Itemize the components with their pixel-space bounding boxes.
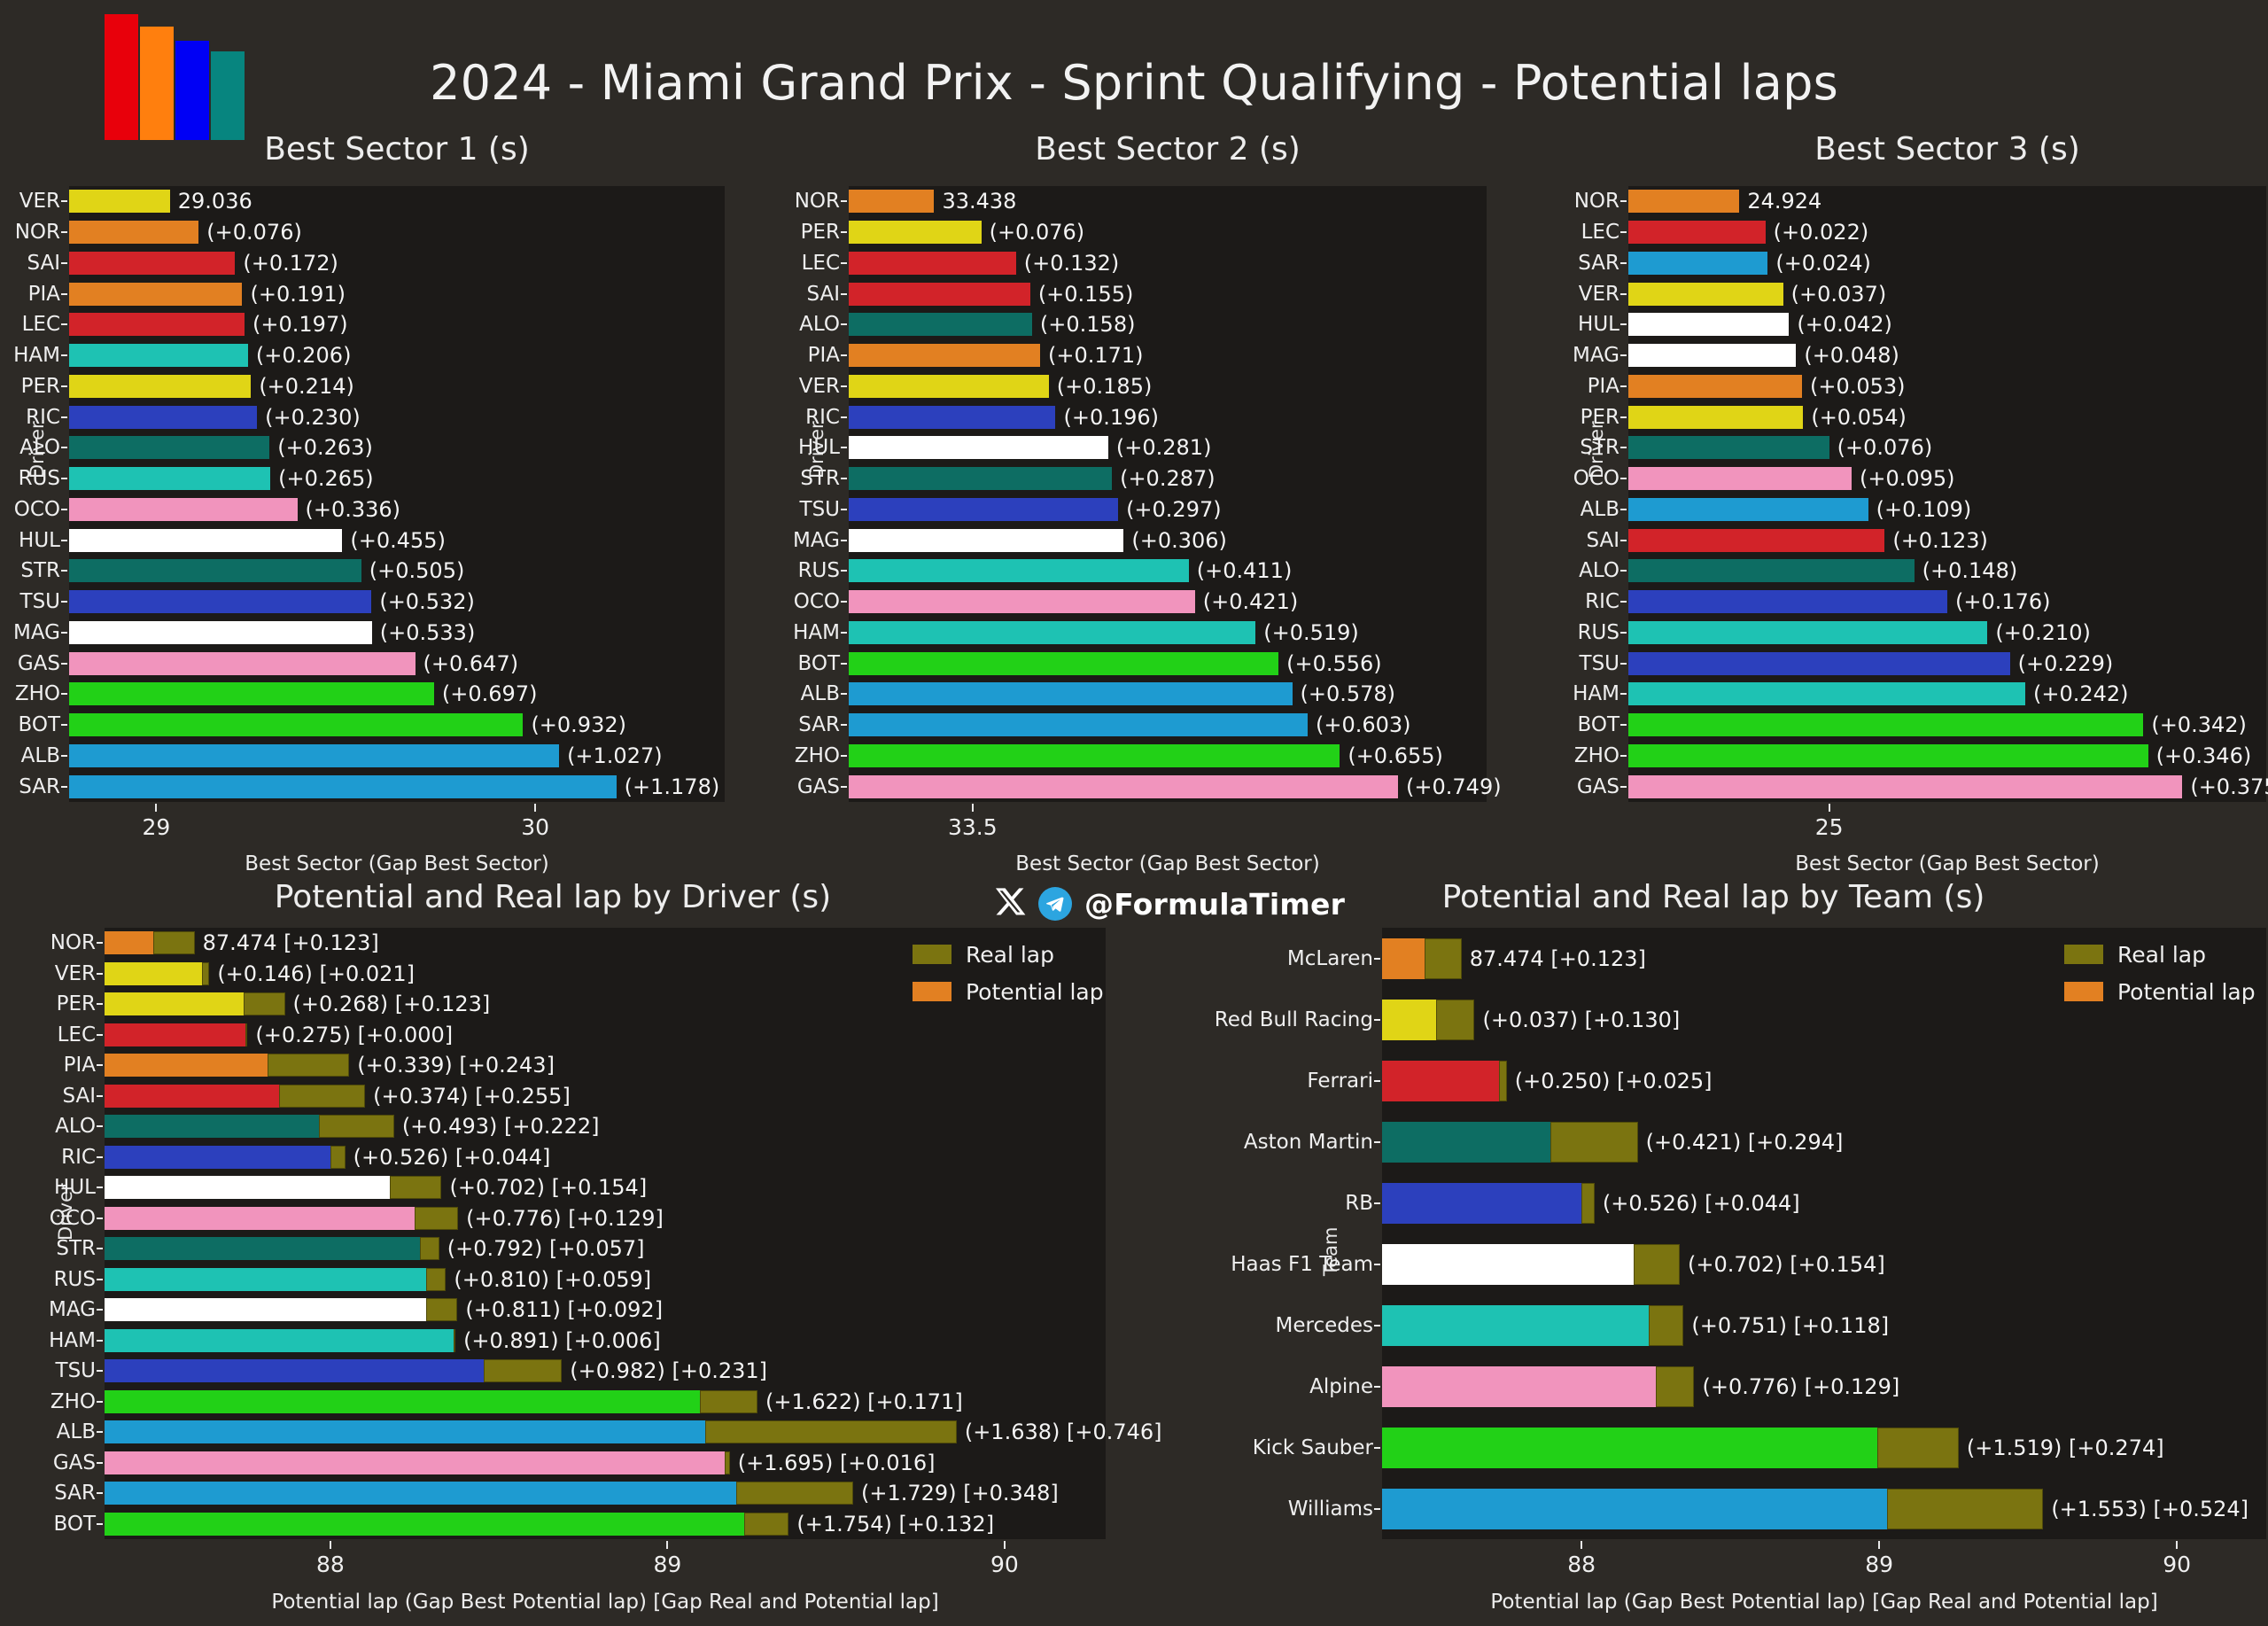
legend-swatch — [2064, 945, 2103, 964]
bar-OCO[interactable] — [1628, 467, 1852, 490]
bar-ALB[interactable] — [849, 682, 1293, 705]
bar-TSU[interactable] — [69, 590, 371, 613]
y-tick-mark — [841, 570, 847, 572]
bar-BOT[interactable] — [69, 713, 523, 736]
chart-row[interactable]: RUS(+0.810) [+0.059] — [105, 1268, 1106, 1291]
bar-RUS[interactable] — [69, 467, 270, 490]
chart-row[interactable]: OCO(+0.336) — [69, 498, 725, 521]
y-tick-mark — [841, 786, 847, 788]
y-tick-mark — [61, 447, 67, 448]
chart-row[interactable]: HAM(+0.519) — [849, 621, 1487, 644]
bar-MAG[interactable] — [69, 621, 372, 644]
bar-OCO[interactable] — [849, 590, 1195, 613]
bar-value-label-RIC: (+0.196) — [1055, 405, 1159, 430]
y-tick-mark — [1620, 755, 1627, 757]
bar-value-label-SAR: (+1.729) [+0.348] — [853, 1481, 1059, 1505]
chart-row[interactable]: ZHO(+1.622) [+0.171] — [105, 1390, 1106, 1413]
chart-row[interactable]: ALO(+0.158) — [849, 313, 1487, 336]
x-tick-label: 89 — [653, 1552, 681, 1577]
bar-potential-ALO[interactable] — [105, 1115, 319, 1138]
bar-HAM[interactable] — [849, 621, 1255, 644]
x-tick-mark — [972, 804, 974, 812]
bar-MAG[interactable] — [1628, 344, 1796, 367]
legend-label: Real lap — [2117, 942, 2206, 968]
chart-row[interactable]: LEC(+0.275) [+0.000] — [105, 1023, 1106, 1046]
bar-SAI[interactable] — [1628, 529, 1884, 552]
bar-potential-Williams[interactable] — [1382, 1489, 1887, 1529]
bar-real-NOR[interactable] — [153, 931, 195, 954]
bar-potential-McLaren[interactable] — [1382, 938, 1425, 979]
x-tick-mark — [666, 1541, 668, 1549]
chart-row[interactable]: PER(+0.214) — [69, 375, 725, 398]
legend-item-potential-lap[interactable]: Potential lap — [2064, 976, 2256, 1007]
bar-ALO[interactable] — [1628, 559, 1915, 582]
bar-HAM[interactable] — [1628, 682, 2025, 705]
chart-row[interactable]: RIC(+0.230) — [69, 406, 725, 429]
chart-row[interactable]: LEC(+0.022) — [1628, 221, 2266, 244]
chart-row[interactable]: ALO(+0.493) [+0.222] — [105, 1115, 1106, 1138]
chart-row[interactable]: OCO(+0.776) [+0.129] — [105, 1207, 1106, 1230]
bar-BOT[interactable] — [1628, 713, 2143, 736]
bar-real-Ferrari[interactable] — [1499, 1061, 1506, 1101]
y-tick-mark — [97, 1309, 103, 1311]
bar-RIC[interactable] — [849, 406, 1055, 429]
y-tick-label-HAM: HAM — [793, 621, 840, 644]
bar-potential-PER[interactable] — [105, 992, 244, 1015]
y-tick-label-NOR: NOR — [795, 190, 840, 213]
bar-STR[interactable] — [69, 559, 361, 582]
bar-OCO[interactable] — [69, 498, 298, 521]
y-tick-label-RUS: RUS — [54, 1268, 96, 1291]
bar-potential-SAI[interactable] — [105, 1085, 279, 1108]
chart-row[interactable]: MAG(+0.533) — [69, 621, 725, 644]
bar-real-PER[interactable] — [244, 992, 285, 1015]
chart-row[interactable]: VER(+0.037) — [1628, 283, 2266, 306]
chart-row[interactable]: MAG(+0.048) — [1628, 344, 2266, 367]
bar-real-Mercedes[interactable] — [1649, 1305, 1684, 1346]
y-tick-label-RIC: RIC — [805, 406, 840, 429]
y-tick-mark — [841, 200, 847, 202]
bar-GAS[interactable] — [69, 652, 416, 675]
chart-row[interactable]: PIA(+0.171) — [849, 344, 1487, 367]
chart-plot-area-best-sector-2 — [849, 186, 1487, 802]
chart-row[interactable]: SAR(+1.729) [+0.348] — [105, 1482, 1106, 1505]
bar-TSU[interactable] — [849, 498, 1118, 521]
chart-row[interactable]: OCO(+0.095) — [1628, 467, 2266, 490]
chart-row[interactable]: HUL(+0.281) — [849, 436, 1487, 459]
y-tick-label-ZHO: ZHO — [50, 1390, 96, 1413]
y-tick-mark — [61, 200, 67, 202]
bar-LEC[interactable] — [849, 252, 1016, 275]
bar-real-Red Bull Racing[interactable] — [1436, 1000, 1475, 1040]
x-tick-mark — [330, 1541, 331, 1549]
bar-value-label-NOR: 33.438 — [934, 189, 1016, 214]
chart-row[interactable]: RIC(+0.176) — [1628, 590, 2266, 613]
y-tick-label-OCO: OCO — [1573, 467, 1619, 490]
y-tick-label-HUL: HUL — [1578, 313, 1619, 336]
bar-real-Haas F1 Team[interactable] — [1634, 1244, 1680, 1285]
chart-row[interactable]: ALB(+1.638) [+0.746] — [105, 1420, 1106, 1443]
bar-value-label-Mercedes: (+0.751) [+0.118] — [1683, 1313, 1889, 1338]
bar-potential-Aston Martin[interactable] — [1382, 1122, 1550, 1163]
bar-ALB[interactable] — [1628, 498, 1868, 521]
bar-value-label-OCO: (+0.336) — [298, 497, 401, 522]
bar-real-RIC[interactable] — [330, 1146, 346, 1169]
bar-PER[interactable] — [849, 221, 982, 244]
bar-STR[interactable] — [1628, 436, 1829, 459]
bar-value-label-RUS: (+0.411) — [1189, 558, 1293, 583]
chart-row[interactable]: MAG(+0.306) — [849, 529, 1487, 552]
bar-PIA[interactable] — [1628, 375, 1802, 398]
y-tick-label-Williams: Williams — [1288, 1498, 1373, 1521]
bar-TSU[interactable] — [1628, 652, 2010, 675]
bar-PIA[interactable] — [69, 283, 242, 306]
y-tick-label-TSU: TSU — [20, 590, 60, 613]
bar-value-label-GAS: (+1.695) [+0.016] — [730, 1451, 936, 1475]
bar-value-label-HUL: (+0.042) — [1789, 312, 1892, 337]
chart-row[interactable]: NOR33.438 — [849, 190, 1487, 213]
chart-row[interactable]: BOT(+0.932) — [69, 713, 725, 736]
legend-item-potential-lap[interactable]: Potential lap — [913, 976, 1104, 1007]
chart-row[interactable]: HUL(+0.702) [+0.154] — [105, 1176, 1106, 1199]
chart-row[interactable]: TSU(+0.297) — [849, 498, 1487, 521]
y-tick-mark — [61, 293, 67, 295]
bar-real-ALO[interactable] — [319, 1115, 393, 1138]
y-tick-mark — [841, 724, 847, 726]
x-tick-label: 88 — [316, 1552, 345, 1577]
chart-row[interactable]: BOT(+0.342) — [1628, 713, 2266, 736]
chart-row[interactable]: Aston Martin(+0.421) [+0.294] — [1382, 1122, 2266, 1163]
y-tick-label-GAS: GAS — [797, 775, 840, 798]
chart-row[interactable]: VER(+0.185) — [849, 375, 1487, 398]
chart-row[interactable]: HAM(+0.242) — [1628, 682, 2266, 705]
chart-row[interactable]: NOR24.924 — [1628, 190, 2266, 213]
y-tick-mark — [97, 1156, 103, 1158]
bar-LEC[interactable] — [69, 313, 245, 336]
bar-LEC[interactable] — [1628, 221, 1766, 244]
bar-potential-Ferrari[interactable] — [1382, 1061, 1499, 1101]
chart-row[interactable]: PER(+0.054) — [1628, 406, 2266, 429]
bar-potential-RIC[interactable] — [105, 1146, 330, 1169]
chart-row[interactable]: PIA(+0.191) — [69, 283, 725, 306]
chart-row[interactable]: HAM(+0.206) — [69, 344, 725, 367]
bar-real-HUL[interactable] — [390, 1176, 442, 1199]
x-tick-label: 25 — [1815, 814, 1844, 840]
bar-PER[interactable] — [1628, 406, 1803, 429]
bar-value-label-BOT: (+0.556) — [1278, 651, 1382, 676]
chart-row[interactable]: Alpine(+0.776) [+0.129] — [1382, 1366, 2266, 1407]
bar-real-BOT[interactable] — [744, 1513, 788, 1536]
chart-title-potential-real-by-team: Potential and Real lap by Team (s) — [1161, 879, 2266, 915]
bar-real-OCO[interactable] — [415, 1207, 458, 1230]
bar-HUL[interactable] — [1628, 313, 1789, 336]
bar-PER[interactable] — [69, 375, 251, 398]
bar-potential-RUS[interactable] — [105, 1268, 426, 1291]
bar-VER[interactable] — [69, 190, 170, 213]
page-title: 2024 - Miami Grand Prix - Sprint Qualify… — [0, 55, 2268, 111]
chart-row[interactable]: SAR(+0.603) — [849, 713, 1487, 736]
chart-row[interactable]: ALB(+0.578) — [849, 682, 1487, 705]
chart-row[interactable]: Kick Sauber(+1.519) [+0.274] — [1382, 1428, 2266, 1468]
bar-value-label-SAI: (+0.155) — [1030, 282, 1134, 307]
bar-ALO[interactable] — [69, 436, 269, 459]
y-tick-label-RUS: RUS — [19, 467, 60, 490]
bar-real-PIA[interactable] — [268, 1054, 349, 1077]
chart-row[interactable]: RIC(+0.526) [+0.044] — [105, 1146, 1106, 1169]
chart-row[interactable]: ALB(+1.027) — [69, 744, 725, 767]
y-tick-mark — [1620, 200, 1627, 202]
chart-row[interactable]: STR(+0.076) — [1628, 436, 2266, 459]
bar-RUS[interactable] — [1628, 621, 1987, 644]
bar-value-label-BOT: (+1.754) [+0.132] — [788, 1512, 994, 1537]
chart-row[interactable]: ZHO(+0.697) — [69, 682, 725, 705]
y-tick-mark — [841, 509, 847, 510]
x-tick-mark — [1581, 1541, 1582, 1549]
y-tick-mark — [61, 601, 67, 603]
y-tick-mark — [841, 354, 847, 356]
chart-title-best-sector-1: Best Sector 1 (s) — [69, 131, 725, 167]
bar-VER[interactable] — [1628, 283, 1783, 306]
y-tick-label-ALO: ALO — [55, 1115, 96, 1138]
y-tick-mark — [61, 478, 67, 479]
bar-potential-PIA[interactable] — [105, 1054, 268, 1077]
chart-row[interactable]: RUS(+0.265) — [69, 467, 725, 490]
bar-potential-HAM[interactable] — [105, 1329, 454, 1352]
bar-value-label-ALO: (+0.493) [+0.222] — [394, 1114, 600, 1139]
chart-row[interactable]: STR(+0.287) — [849, 467, 1487, 490]
chart-row[interactable]: PER(+0.076) — [849, 221, 1487, 244]
bar-GAS[interactable] — [849, 775, 1398, 798]
bar-value-label-PIA: (+0.191) — [242, 282, 346, 307]
bar-value-label-MAG: (+0.048) — [1796, 343, 1899, 368]
bar-HUL[interactable] — [849, 436, 1108, 459]
bar-real-RUS[interactable] — [426, 1268, 446, 1291]
y-tick-mark — [97, 1064, 103, 1066]
bar-potential-TSU[interactable] — [105, 1359, 484, 1382]
chart-row[interactable]: TSU(+0.982) [+0.231] — [105, 1359, 1106, 1382]
y-tick-label-PER: PER — [21, 375, 60, 398]
bar-value-label-PER: (+0.214) — [251, 374, 354, 399]
bar-SAR[interactable] — [69, 775, 617, 798]
y-tick-label-STR: STR — [1580, 436, 1619, 459]
bar-value-label-NOR: (+0.076) — [198, 220, 302, 245]
chart-row[interactable]: SAI(+0.374) [+0.255] — [105, 1085, 1106, 1108]
bar-value-label-RIC: (+0.526) [+0.044] — [346, 1145, 551, 1170]
bar-MAG[interactable] — [849, 529, 1123, 552]
bar-ZHO[interactable] — [69, 682, 434, 705]
chart-row[interactable]: RB(+0.526) [+0.044] — [1382, 1183, 2266, 1224]
y-tick-mark — [61, 632, 67, 634]
legend-item-real-lap[interactable]: Real lap — [2064, 939, 2256, 969]
bar-SAI[interactable] — [849, 283, 1030, 306]
bar-real-ZHO[interactable] — [700, 1390, 757, 1413]
bar-SAI[interactable] — [69, 252, 235, 275]
y-tick-label-LEC: LEC — [1581, 221, 1619, 244]
y-tick-label-ALO: ALO — [19, 436, 60, 459]
bar-STR[interactable] — [849, 467, 1112, 490]
x-tick-label: 33.5 — [948, 814, 998, 840]
x-tick-mark — [534, 804, 536, 812]
bar-potential-LEC[interactable] — [105, 1023, 245, 1046]
y-tick-mark — [841, 293, 847, 295]
y-tick-label-PIA: PIA — [64, 1054, 96, 1077]
bar-potential-Alpine[interactable] — [1382, 1366, 1656, 1407]
bar-SAR[interactable] — [849, 713, 1308, 736]
y-tick-mark — [1620, 632, 1627, 634]
x-axis-label-best-sector-3: Best Sector (Gap Best Sector) — [1628, 852, 2266, 875]
bar-real-Williams[interactable] — [1887, 1489, 2043, 1529]
bar-potential-ZHO[interactable] — [105, 1390, 700, 1413]
bar-HUL[interactable] — [69, 529, 342, 552]
y-tick-mark — [1620, 570, 1627, 572]
y-tick-mark — [1620, 262, 1627, 264]
bar-potential-SAR[interactable] — [105, 1482, 736, 1505]
bar-value-label-LEC: (+0.022) — [1766, 220, 1869, 245]
chart-row[interactable]: ALB(+0.109) — [1628, 498, 2266, 521]
chart-row[interactable]: NOR(+0.076) — [69, 221, 725, 244]
chart-row[interactable]: SAR(+0.024) — [1628, 252, 2266, 275]
chart-row[interactable]: PIA(+0.339) [+0.243] — [105, 1054, 1106, 1077]
chart-row[interactable]: ZHO(+0.655) — [849, 744, 1487, 767]
bar-potential-VER[interactable] — [105, 962, 202, 985]
bar-NOR[interactable] — [849, 190, 934, 213]
chart-row[interactable]: HUL(+0.455) — [69, 529, 725, 552]
bar-real-VER[interactable] — [202, 962, 209, 985]
bar-NOR[interactable] — [69, 221, 198, 244]
chart-row[interactable]: Haas F1 Team(+0.702) [+0.154] — [1382, 1244, 2266, 1285]
bar-real-ALB[interactable] — [705, 1420, 957, 1443]
x-tick-label: 90 — [2163, 1552, 2191, 1577]
bar-potential-MAG[interactable] — [105, 1298, 426, 1321]
bar-real-Aston Martin[interactable] — [1550, 1122, 1638, 1163]
y-tick-label-OCO: OCO — [50, 1207, 96, 1230]
y-tick-label-Ferrari: Ferrari — [1307, 1070, 1373, 1093]
bar-potential-STR[interactable] — [105, 1237, 420, 1260]
chart-row[interactable]: GAS(+0.647) — [69, 652, 725, 675]
chart-row[interactable]: GAS(+1.695) [+0.016] — [105, 1451, 1106, 1474]
x-axis-label-best-sector-2: Best Sector (Gap Best Sector) — [849, 852, 1487, 875]
chart-row[interactable]: Ferrari(+0.250) [+0.025] — [1382, 1061, 2266, 1101]
bar-value-label-VER: (+0.146) [+0.021] — [209, 961, 415, 986]
y-tick-mark — [97, 1248, 103, 1249]
y-tick-label-GAS: GAS — [1577, 775, 1619, 798]
bar-real-STR[interactable] — [420, 1237, 439, 1260]
y-tick-mark — [97, 1370, 103, 1372]
chart-row[interactable]: RUS(+0.210) — [1628, 621, 2266, 644]
bar-real-Alpine[interactable] — [1656, 1366, 1694, 1407]
bar-real-TSU[interactable] — [484, 1359, 562, 1382]
bar-potential-Haas F1 Team[interactable] — [1382, 1244, 1634, 1285]
bar-RIC[interactable] — [69, 406, 257, 429]
chart-row[interactable]: BOT(+1.754) [+0.132] — [105, 1513, 1106, 1536]
chart-row[interactable]: BOT(+0.556) — [849, 652, 1487, 675]
chart-row[interactable]: LEC(+0.132) — [849, 252, 1487, 275]
chart-row[interactable]: HAM(+0.891) [+0.006] — [105, 1329, 1106, 1352]
bar-real-Kick Sauber[interactable] — [1877, 1428, 1959, 1468]
chart-row[interactable]: MAG(+0.811) [+0.092] — [105, 1298, 1106, 1321]
bar-ALO[interactable] — [849, 313, 1032, 336]
bar-real-SAR[interactable] — [736, 1482, 853, 1505]
chart-row[interactable]: SAI(+0.172) — [69, 252, 725, 275]
bar-HAM[interactable] — [69, 344, 248, 367]
bar-real-MAG[interactable] — [426, 1298, 457, 1321]
chart-row[interactable]: ALO(+0.263) — [69, 436, 725, 459]
bar-VER[interactable] — [849, 375, 1049, 398]
bar-potential-Mercedes[interactable] — [1382, 1305, 1649, 1346]
chart-row[interactable]: Mercedes(+0.751) [+0.118] — [1382, 1305, 2266, 1346]
chart-row[interactable]: ALO(+0.148) — [1628, 559, 2266, 582]
bar-potential-ALB[interactable] — [105, 1420, 705, 1443]
bar-real-RB[interactable] — [1581, 1183, 1595, 1224]
chart-row[interactable]: HUL(+0.042) — [1628, 313, 2266, 336]
legend-swatch — [913, 945, 951, 964]
chart-row[interactable]: OCO(+0.421) — [849, 590, 1487, 613]
bar-potential-GAS[interactable] — [105, 1451, 725, 1474]
chart-row[interactable]: TSU(+0.532) — [69, 590, 725, 613]
chart-row[interactable]: SAR(+1.178) — [69, 775, 725, 798]
chart-row[interactable]: LEC(+0.197) — [69, 313, 725, 336]
y-tick-mark — [1374, 1141, 1380, 1143]
bar-ZHO[interactable] — [849, 744, 1340, 767]
bar-GAS[interactable] — [1628, 775, 2182, 798]
chart-row[interactable]: GAS(+0.749) — [849, 775, 1487, 798]
y-tick-label-SAR: SAR — [1578, 252, 1619, 275]
bar-RIC[interactable] — [1628, 590, 1947, 613]
chart-row[interactable]: RIC(+0.196) — [849, 406, 1487, 429]
bar-potential-BOT[interactable] — [105, 1513, 744, 1536]
bar-NOR[interactable] — [1628, 190, 1739, 213]
y-tick-label-MAG: MAG — [13, 621, 60, 644]
y-tick-mark — [1374, 1264, 1380, 1265]
bar-value-label-STR: (+0.505) — [361, 558, 465, 583]
bar-potential-Red Bull Racing[interactable] — [1382, 1000, 1436, 1040]
chart-plot-area-best-sector-3 — [1628, 186, 2266, 802]
y-tick-mark — [61, 755, 67, 757]
chart-row[interactable]: GAS(+0.375) — [1628, 775, 2266, 798]
chart-row[interactable]: STR(+0.792) [+0.057] — [105, 1237, 1106, 1260]
chart-row[interactable]: SAI(+0.123) — [1628, 529, 2266, 552]
bar-potential-HUL[interactable] — [105, 1176, 390, 1199]
chart-row[interactable]: ZHO(+0.346) — [1628, 744, 2266, 767]
legend-item-real-lap[interactable]: Real lap — [913, 939, 1104, 969]
bar-SAR[interactable] — [1628, 252, 1767, 275]
bar-BOT[interactable] — [849, 652, 1278, 675]
y-tick-label-SAI: SAI — [62, 1085, 96, 1108]
chart-row[interactable]: STR(+0.505) — [69, 559, 725, 582]
bar-real-SAI[interactable] — [279, 1085, 365, 1108]
bar-value-label-RIC: (+0.176) — [1947, 589, 2051, 614]
y-tick-label-LEC: LEC — [802, 252, 840, 275]
bar-potential-OCO[interactable] — [105, 1207, 415, 1230]
bar-real-McLaren[interactable] — [1425, 938, 1461, 979]
chart-row[interactable]: PIA(+0.053) — [1628, 375, 2266, 398]
chart-row[interactable]: SAI(+0.155) — [849, 283, 1487, 306]
y-tick-label-RIC: RIC — [26, 406, 60, 429]
x-tick-mark — [1878, 1541, 1880, 1549]
y-tick-label-PER: PER — [57, 992, 96, 1015]
bar-ALB[interactable] — [69, 744, 559, 767]
bar-potential-Kick Sauber[interactable] — [1382, 1428, 1877, 1468]
chart-row[interactable]: TSU(+0.229) — [1628, 652, 2266, 675]
chart-row[interactable]: VER29.036 — [69, 190, 725, 213]
bar-ZHO[interactable] — [1628, 744, 2148, 767]
bar-potential-NOR[interactable] — [105, 931, 153, 954]
chart-row[interactable]: RUS(+0.411) — [849, 559, 1487, 582]
bar-PIA[interactable] — [849, 344, 1040, 367]
bar-RUS[interactable] — [849, 559, 1189, 582]
bar-potential-RB[interactable] — [1382, 1183, 1581, 1224]
chart-row[interactable]: Williams(+1.553) [+0.524] — [1382, 1489, 2266, 1529]
